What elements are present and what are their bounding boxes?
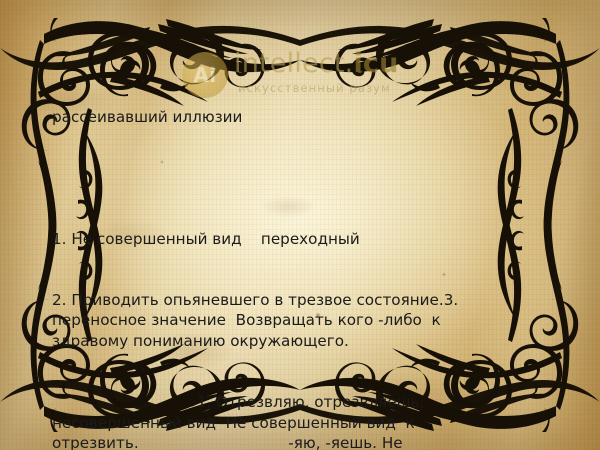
text-line-3: 1. Отрезвляю, отрезвляешь, несовершенный… [52, 392, 504, 450]
text-line-1: 1. Не совершенный вид переходный [52, 229, 504, 249]
slide-canvas: Ai intellect.icu искусственный разум рас… [0, 0, 600, 450]
slide-text-block: рассеивавший иллюзии 1. Не совершенный в… [52, 66, 504, 450]
text-spacer [52, 168, 504, 188]
text-line-2: 2. Приводить опьяневшего в трезвое состо… [52, 290, 504, 351]
text-heading: рассеивавший иллюзии [52, 107, 504, 127]
